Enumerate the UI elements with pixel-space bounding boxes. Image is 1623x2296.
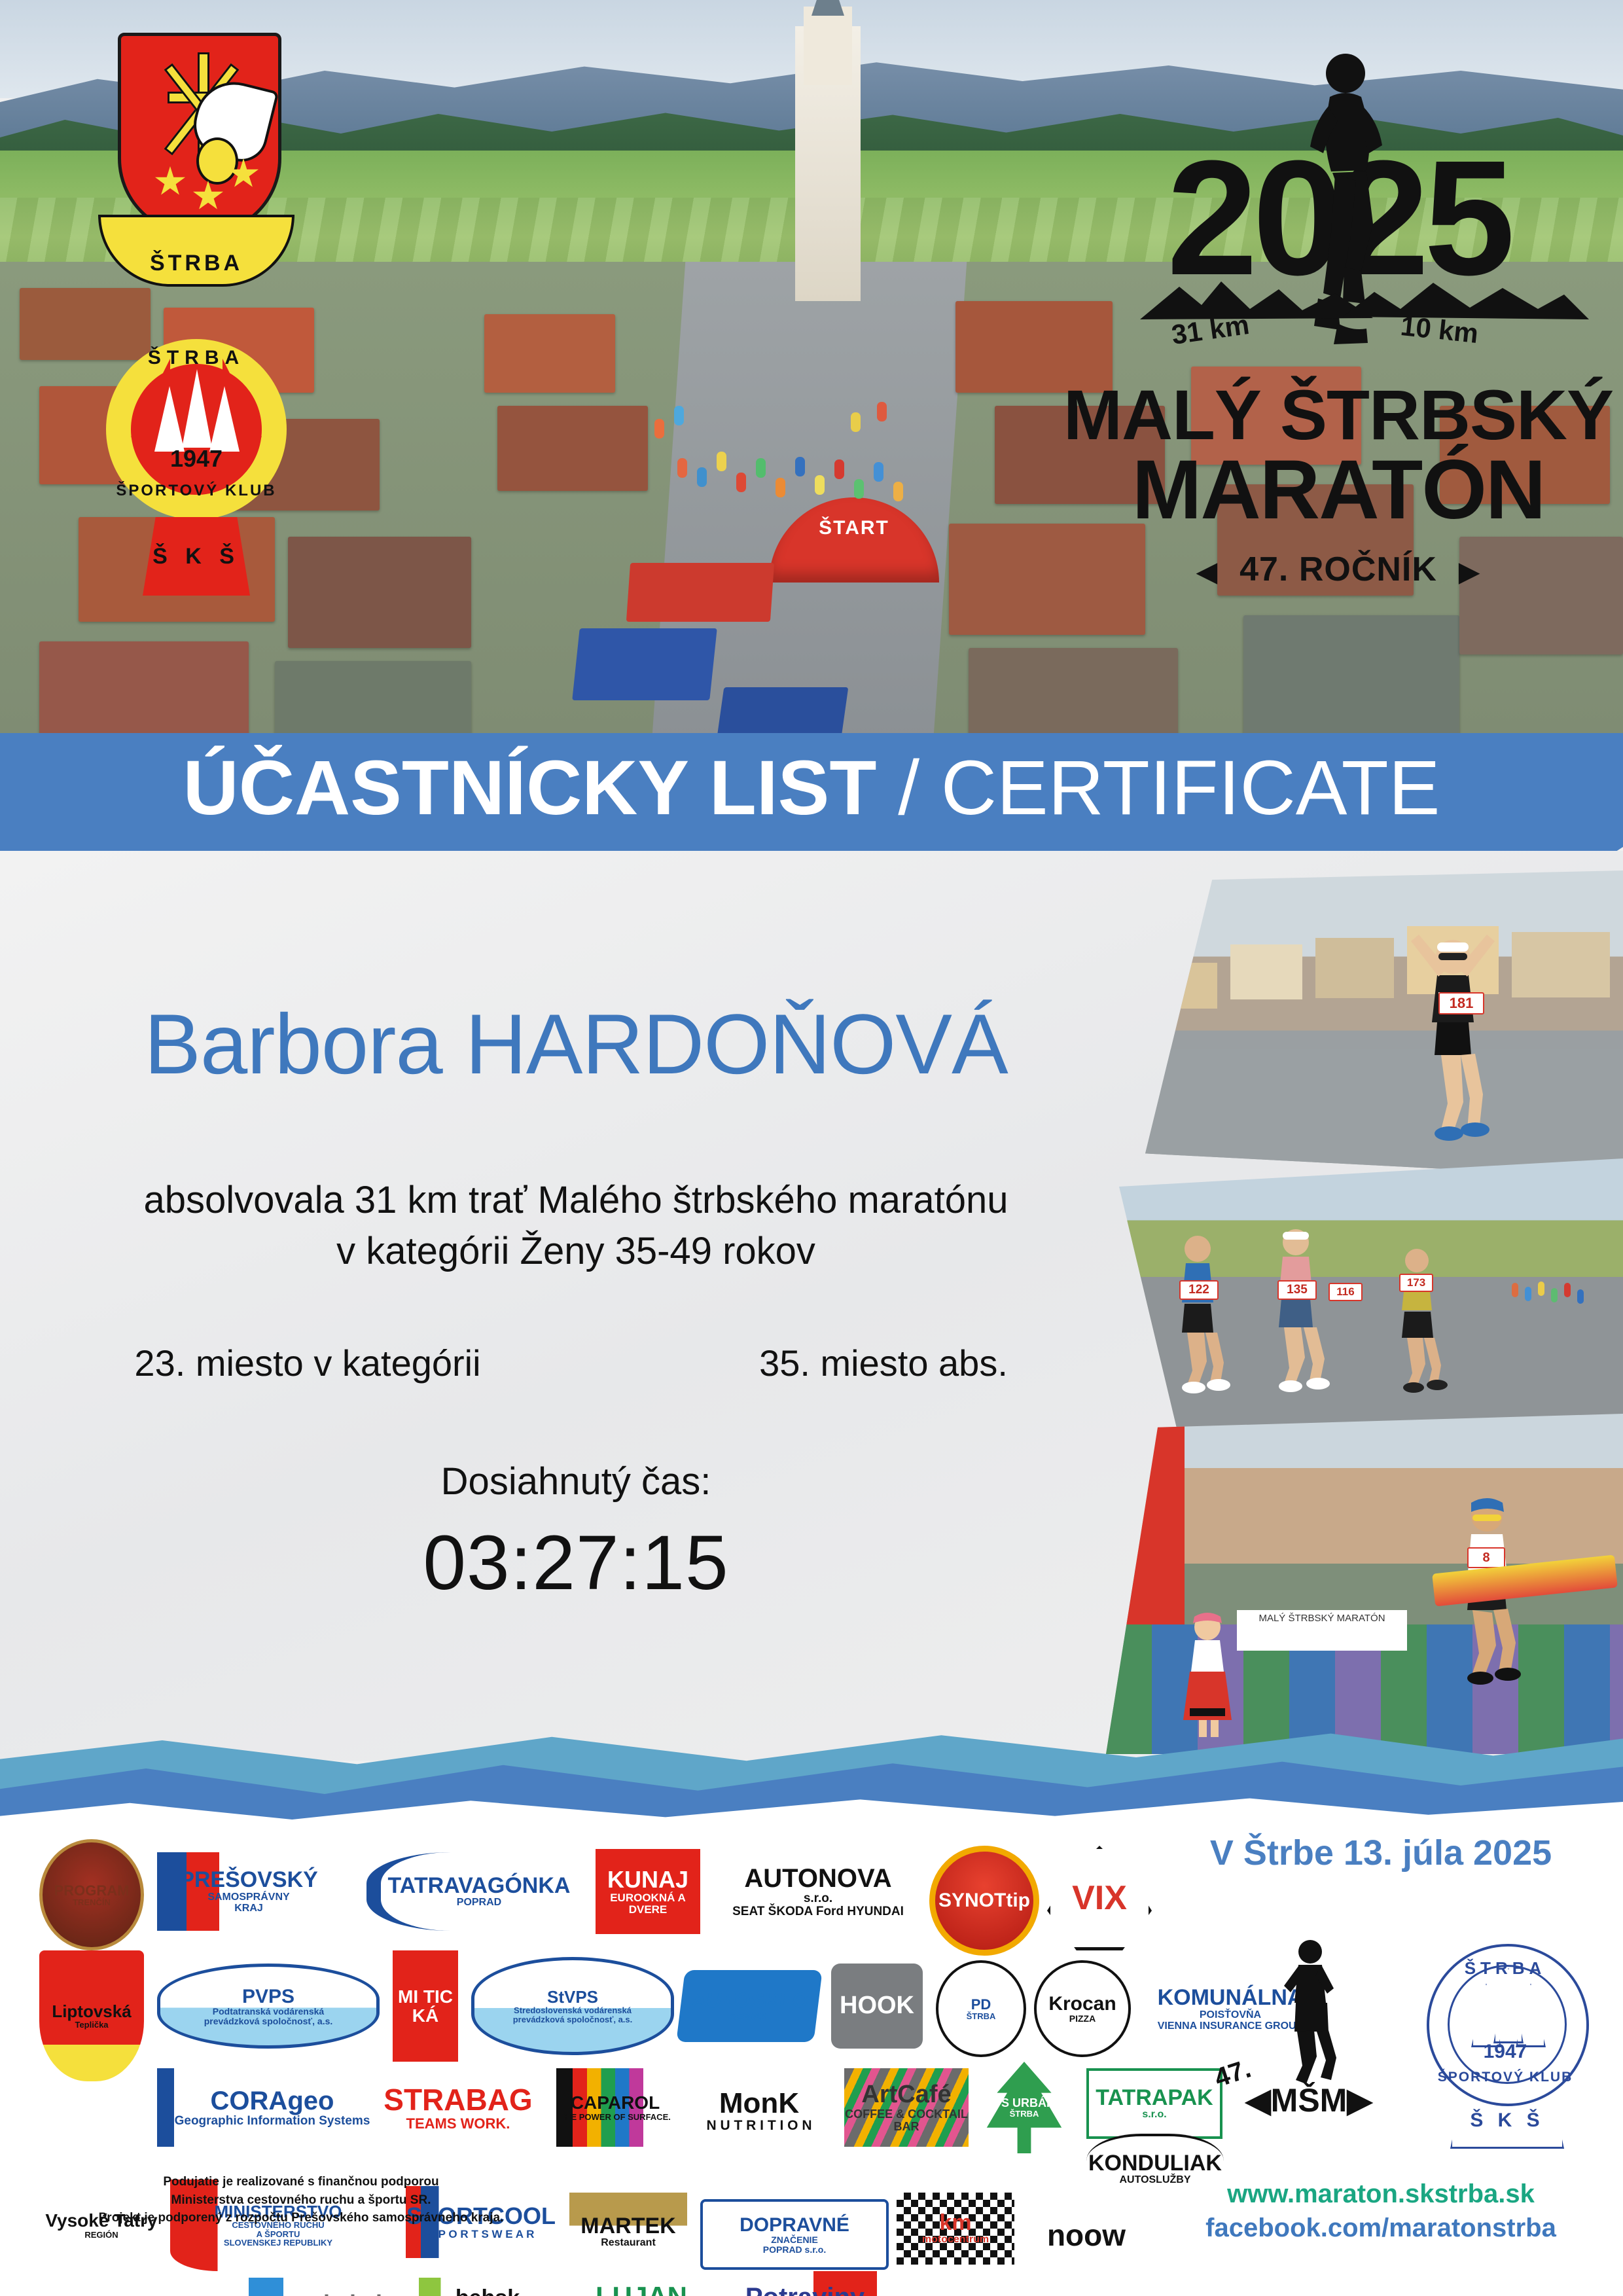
crowd: [874, 462, 883, 482]
stamp-bottom-label: ŠPORTOVÝ KLUB: [1427, 2070, 1584, 2085]
race-edition-label: 47. ROČNÍK: [1240, 550, 1437, 588]
crowd: [654, 419, 664, 439]
sponsor-name: CAPAROL: [571, 2093, 660, 2112]
sponsor-logo: TATRAPAKs.r.o.: [1086, 2068, 1222, 2139]
support-note-line-2: Ministerstva cestovného ruchu a športu S…: [52, 2191, 550, 2210]
sponsor-subtitle: prevádzková spoločnosť, a.s.: [513, 2015, 633, 2024]
sponsor-name: noow: [1047, 2219, 1126, 2251]
sponsor-logo: PS URBÁRŠTRBA: [982, 2062, 1067, 2153]
crest-ribbon-label: ŠTRBA: [150, 251, 243, 276]
sponsor-subtitle: S P O R T S W E A R: [428, 2229, 535, 2240]
crowd: [893, 482, 903, 501]
sponsor-subtitle: EUROOKNÁ A DVERE: [596, 1892, 700, 1916]
crowd: [834, 459, 844, 479]
sponsor-subtitle: Geographic Information Systems: [175, 2115, 370, 2128]
sponsor-subtitle: SERVIS: [730, 2012, 767, 2022]
crowd: [776, 478, 785, 497]
sponsor-logo: CAPAROLTHE POWER OF SURFACE.: [556, 2068, 674, 2147]
distant-runner: [1512, 1283, 1518, 1297]
sponsor-name: PD: [971, 1997, 991, 2012]
bib-number: 116: [1329, 1283, 1363, 1301]
distant-runner: [1564, 1283, 1571, 1297]
runner-silhouette-173: [1381, 1244, 1453, 1394]
sponsor-subtitle: TRENČÍN: [73, 1898, 111, 1907]
crowd: [815, 475, 825, 495]
sponsor-subtitle: Restaurant: [601, 2238, 656, 2249]
sponsor-name: KONDULIAK: [1088, 2152, 1222, 2176]
sponsor-subtitle: s.r.o.: [1142, 2109, 1166, 2121]
sponsor-logo: VIX: [1047, 1846, 1152, 1950]
sponsor-logo: PVPSPodtatranská vodárenskáprevádzková s…: [157, 1964, 380, 2049]
stamp-year: 1947: [1448, 2041, 1563, 2063]
sponsor-name: MonK: [719, 2089, 799, 2119]
emblem-bottom-label: ŠPORTOVÝ KLUB: [106, 482, 287, 500]
athlete-name: Barbora HARDOŇOVÁ: [39, 995, 1113, 1093]
title-separator: /: [876, 745, 940, 831]
sponsor-logo: MonKN U T R I T I O N: [694, 2078, 825, 2144]
photo-finish-line: MALÝ ŠTRBSKÝ MARATÓN 8: [1106, 1414, 1623, 1754]
roof: [1243, 615, 1459, 740]
bib-number: 181: [1438, 992, 1484, 1014]
crowd: [854, 479, 864, 499]
hero-photo: ŠTART: [0, 0, 1623, 772]
sponsor-name: StVPS: [547, 1988, 598, 2006]
bib-number: 122: [1179, 1280, 1219, 1300]
finish-time: 03:27:15: [39, 1518, 1113, 1607]
crowd: [877, 402, 887, 422]
distant-runner: [1577, 1289, 1584, 1304]
sponsor-name: ArtCafé: [861, 2082, 951, 2108]
roof: [497, 406, 648, 491]
sponsor-subtitle: KRAJ: [234, 1903, 263, 1914]
runner-silhouette-122: [1158, 1230, 1237, 1394]
sponsor-logo: PREŠOVSKÝSAMOSPRÁVNYKRAJ: [157, 1852, 340, 1931]
sponsor-name: DOPRAVNÉ: [740, 2215, 849, 2236]
sponsor-subtitle: Teplička: [75, 2020, 108, 2030]
crowd: [717, 452, 726, 471]
sponsor-subtitle: REGIÓN: [84, 2231, 118, 2240]
sponsor-logo: LiptovskáTeplička: [39, 1950, 144, 2081]
sponsor-subtitle: A ŠPORTU: [257, 2230, 300, 2239]
sponsor-name: PREŠOVSKÝ: [179, 1869, 318, 1892]
sponsor-name: Potraviny: [745, 2284, 865, 2296]
sponsor-subtitle: THE POWER OF SURFACE.: [560, 2113, 671, 2122]
sponsor-name: PS URBÁR: [993, 2097, 1055, 2109]
sponsor-logo: pretekaj.sk: [249, 2278, 406, 2296]
sponsor-name: LUJAN: [596, 2282, 687, 2296]
sponsor-logo: MI TIC KÁ: [393, 1950, 458, 2062]
sponsor-name: PVPS: [242, 1986, 294, 2007]
stamp-top-label: ŠTRBA: [1427, 1958, 1584, 1979]
sponsor-subtitle: Stredoslovenská vodárenská: [514, 2006, 632, 2015]
strba-coat-of-arms: ŠTRBA: [98, 26, 294, 301]
sportovy-klub-strba-emblem: ŠTRBA 1947 ŠPORTOVÝ KLUB Š K Š: [85, 321, 308, 596]
sponsor-logo: PotravinyŠERFEL: [733, 2271, 877, 2296]
title-slovak: ÚČASTNÍCKY LIST: [183, 745, 877, 831]
crowd: [697, 467, 707, 487]
sponsor-subtitle: SAMOSPRÁVNY: [207, 1892, 289, 1903]
club-stamp: ŠTRBA 1947 ŠPORTOVÝ KLUB Š K Š: [1407, 1931, 1603, 2147]
crowd: [851, 412, 861, 432]
sponsor-logo: CORAgeoGeographic Information Systems: [157, 2068, 370, 2147]
crowd: [674, 406, 684, 425]
sponsor-logo: StVPSStredoslovenská vodárenskáprevádzko…: [471, 1957, 674, 2055]
sponsor-name: KUNAJ: [607, 1867, 688, 1892]
sponsor-name: behsk: [455, 2287, 520, 2296]
sponsor-logo: AUTONOVAs.r.o.SEAT ŠKODA Ford HYUNDAI: [720, 1846, 916, 1937]
roof: [288, 537, 471, 648]
sponsor-subtitle: ZNAČENIE: [771, 2235, 818, 2245]
sponsor-logo: kmmotocentrum: [897, 2193, 1014, 2265]
photo-finisher-female: 181: [1145, 870, 1623, 1178]
sponsor-logo: noow: [1034, 2206, 1139, 2265]
certificate-page: ŠTART: [0, 0, 1623, 2296]
bib-number: 135: [1277, 1280, 1317, 1300]
sponsor-name: pretekaj.sk: [266, 2291, 389, 2296]
sponsor-subtitle: POPRAD s.r.o.: [763, 2245, 826, 2255]
sponsor-subtitle: motocentrum: [922, 2234, 989, 2246]
arrow-left-icon: ◀: [1197, 557, 1218, 587]
crowd: [736, 473, 746, 492]
crowd: [756, 458, 766, 478]
place-absolute: 35. miesto abs.: [654, 1342, 1113, 1384]
race-edition: ◀ 47. ROČNÍK ▶: [1060, 550, 1616, 589]
sponsor-name: STRABAG: [383, 2084, 532, 2115]
sponsor-subtitle: TEAMS WORK.: [406, 2116, 510, 2131]
runner-silhouette-icon: [1289, 46, 1400, 373]
emblem-top-label: ŠTRBA: [106, 347, 287, 369]
sponsor-subtitle: N U T R I T I O N: [707, 2119, 812, 2133]
sponsor-subtitle: COFFEE & COCKTAIL BAR: [844, 2108, 969, 2133]
sponsor-logo: LUJANPlus s.r.o.: [576, 2271, 707, 2296]
sponsor-subtitle: s.r.o.: [804, 1892, 832, 1905]
sponsor-name: MARTEK: [580, 2215, 675, 2238]
photo-collage: 181 122: [1106, 870, 1623, 1761]
sponsor-name: km: [939, 2212, 971, 2235]
photo-runners-group: 122 135 116 173: [1119, 1158, 1623, 1440]
runner-silhouette-135: [1257, 1224, 1335, 1394]
tent-blue-1: [572, 628, 717, 700]
roof: [484, 314, 615, 393]
sponsor-subtitle: prevádzková spoločnosť, a.s.: [204, 2017, 333, 2026]
bib-number: 173: [1399, 1274, 1433, 1292]
tent-red-1: [626, 563, 774, 622]
crest-cuff: [196, 137, 238, 185]
sponsor-logo-grid: PROGRAMTRENČÍNPREŠOVSKÝSAMOSPRÁVNYKRAJTA…: [39, 1826, 1152, 2232]
sponsor-logo: SYNOTtip: [929, 1846, 1039, 1956]
sponsor-name: TATRAPAK: [1096, 2087, 1213, 2110]
achievement-line-2: v kategórii Ženy 35-49 rokov: [39, 1229, 1113, 1273]
sponsor-subtitle: SLOVENSKEJ REPUBLIKY: [224, 2238, 332, 2248]
msm-abbrev: ◀MŠM▶: [1211, 2081, 1407, 2119]
sponsor-subtitle: SEAT ŠKODA Ford HYUNDAI: [732, 1905, 904, 1918]
sponsor-name: AUTONOVA: [744, 1865, 891, 1892]
page-title: ÚČASTNÍCKY LIST / CERTIFICATE: [0, 749, 1623, 827]
sponsor-logo: MARTEKRestaurant: [569, 2193, 687, 2271]
achievement-line-1: absolvovala 31 km trať Malého štrbského …: [39, 1178, 1113, 1222]
sponsor-subtitle: ŠTRBA: [967, 2012, 996, 2021]
sponsor-name: PROGRAM: [54, 1883, 130, 1898]
sponsor-logo: TATRAVAGÓNKAPOPRAD: [366, 1852, 577, 1931]
website-url[interactable]: www.maraton.skstrba.sk: [1152, 2179, 1610, 2209]
sponsor-name: CORAgeo: [211, 2087, 334, 2115]
sponsor-name: VIX: [1072, 1880, 1127, 1916]
race-name-line2: MARATÓN: [1060, 448, 1616, 532]
facebook-url[interactable]: facebook.com/maratonstrba: [1152, 2214, 1610, 2243]
sponsor-logo: STRABAGTEAMS WORK.: [380, 2072, 537, 2144]
distant-runner: [1538, 1282, 1544, 1296]
sponsor-name: SYNOTtip: [938, 1890, 1030, 1911]
place-in-category: 23. miesto v kategórii: [79, 1342, 537, 1384]
sponsor-logo: ArtCaféCOFFEE & COCKTAIL BAR: [844, 2068, 969, 2147]
time-label: Dosiahnutý čas:: [39, 1460, 1113, 1503]
sponsor-subtitle: PIZZA: [1069, 2014, 1096, 2024]
emblem-triangle: Š K Š: [143, 517, 250, 596]
support-note-line-3: Projekt je podporený z rozpočtu Prešovsk…: [52, 2209, 550, 2227]
sponsor-subtitle: Podtatranská vodárenská: [213, 2007, 324, 2017]
sponsor-name: MI TIC KÁ: [393, 1987, 458, 2026]
crowd: [795, 457, 805, 476]
distant-runner: [1525, 1287, 1531, 1301]
sponsor-name: Liptovská: [52, 2003, 131, 2020]
sponsor-logo: KrocanPIZZA: [1034, 1960, 1131, 2057]
church-tower: [804, 7, 852, 85]
sponsor-logo: DOPRAVNÉZNAČENIEPOPRAD s.r.o.: [700, 2199, 889, 2270]
finish-banner: MALÝ ŠTRBSKÝ MARATÓN: [1237, 1610, 1407, 1651]
sponsor-logo: HOOK: [831, 1964, 923, 2049]
sponsor-name: Krocan: [1048, 1994, 1116, 2015]
title-english: CERTIFICATE: [941, 745, 1440, 831]
sponsor-logo: PDŠTRBA: [936, 1960, 1026, 2057]
sponsor-logo: PROGRAMTRENČÍN: [39, 1839, 144, 1950]
arrow-right-icon: ▶: [1459, 557, 1480, 587]
sponsor-logo: AUTOSKLOSERVIS: [676, 1970, 823, 2042]
folk-costume-girl: [1171, 1610, 1243, 1741]
issue-date: V Štrbe 13. júla 2025: [1152, 1833, 1610, 1873]
runner-silhouette-icon: [1270, 1937, 1348, 2088]
sponsor-logo: KUNAJEUROOKNÁ A DVERE: [596, 1849, 700, 1934]
stamp-triangle: Š K Š: [1450, 2094, 1564, 2149]
bib-number: 8: [1467, 1547, 1505, 1568]
crest-ribbon: ŠTRBA: [98, 215, 294, 287]
sponsor-subtitle: POPRAD: [457, 1897, 501, 1909]
sponsor-name: TATRAVAGÓNKA: [388, 1874, 571, 1898]
church-spire: [811, 0, 844, 16]
emblem-year: 1947: [131, 445, 262, 473]
race-name-line1: MALÝ ŠTRBSKÝ: [1060, 380, 1616, 450]
distant-runner: [1551, 1288, 1558, 1302]
sponsor-name: HOOK: [840, 1993, 914, 2019]
mountain-outline-right-icon: [1342, 276, 1590, 322]
stamp-abbrev: Š K Š: [1470, 2109, 1544, 2132]
female-runner-silhouette: [1400, 929, 1505, 1145]
sponsor-logo: behskWeb, ktorý vás rozhýbe: [419, 2278, 556, 2296]
sponsor-name: AUTOSKLO: [690, 1990, 810, 2012]
crowd: [677, 458, 687, 478]
msm-logo: 47. ◀MŠM▶: [1211, 1931, 1407, 2147]
support-note: Podujatie je realizované s finančnou pod…: [52, 2173, 550, 2227]
race-logo: 2025 31 km: [1060, 33, 1616, 609]
sponsor-subtitle: ŠTRBA: [1010, 2109, 1039, 2119]
mountain-outline-left-icon: [1139, 276, 1374, 322]
support-note-line-1: Podujatie je realizované s finančnou pod…: [52, 2173, 550, 2191]
emblem-abbrev: Š K Š: [152, 544, 240, 569]
